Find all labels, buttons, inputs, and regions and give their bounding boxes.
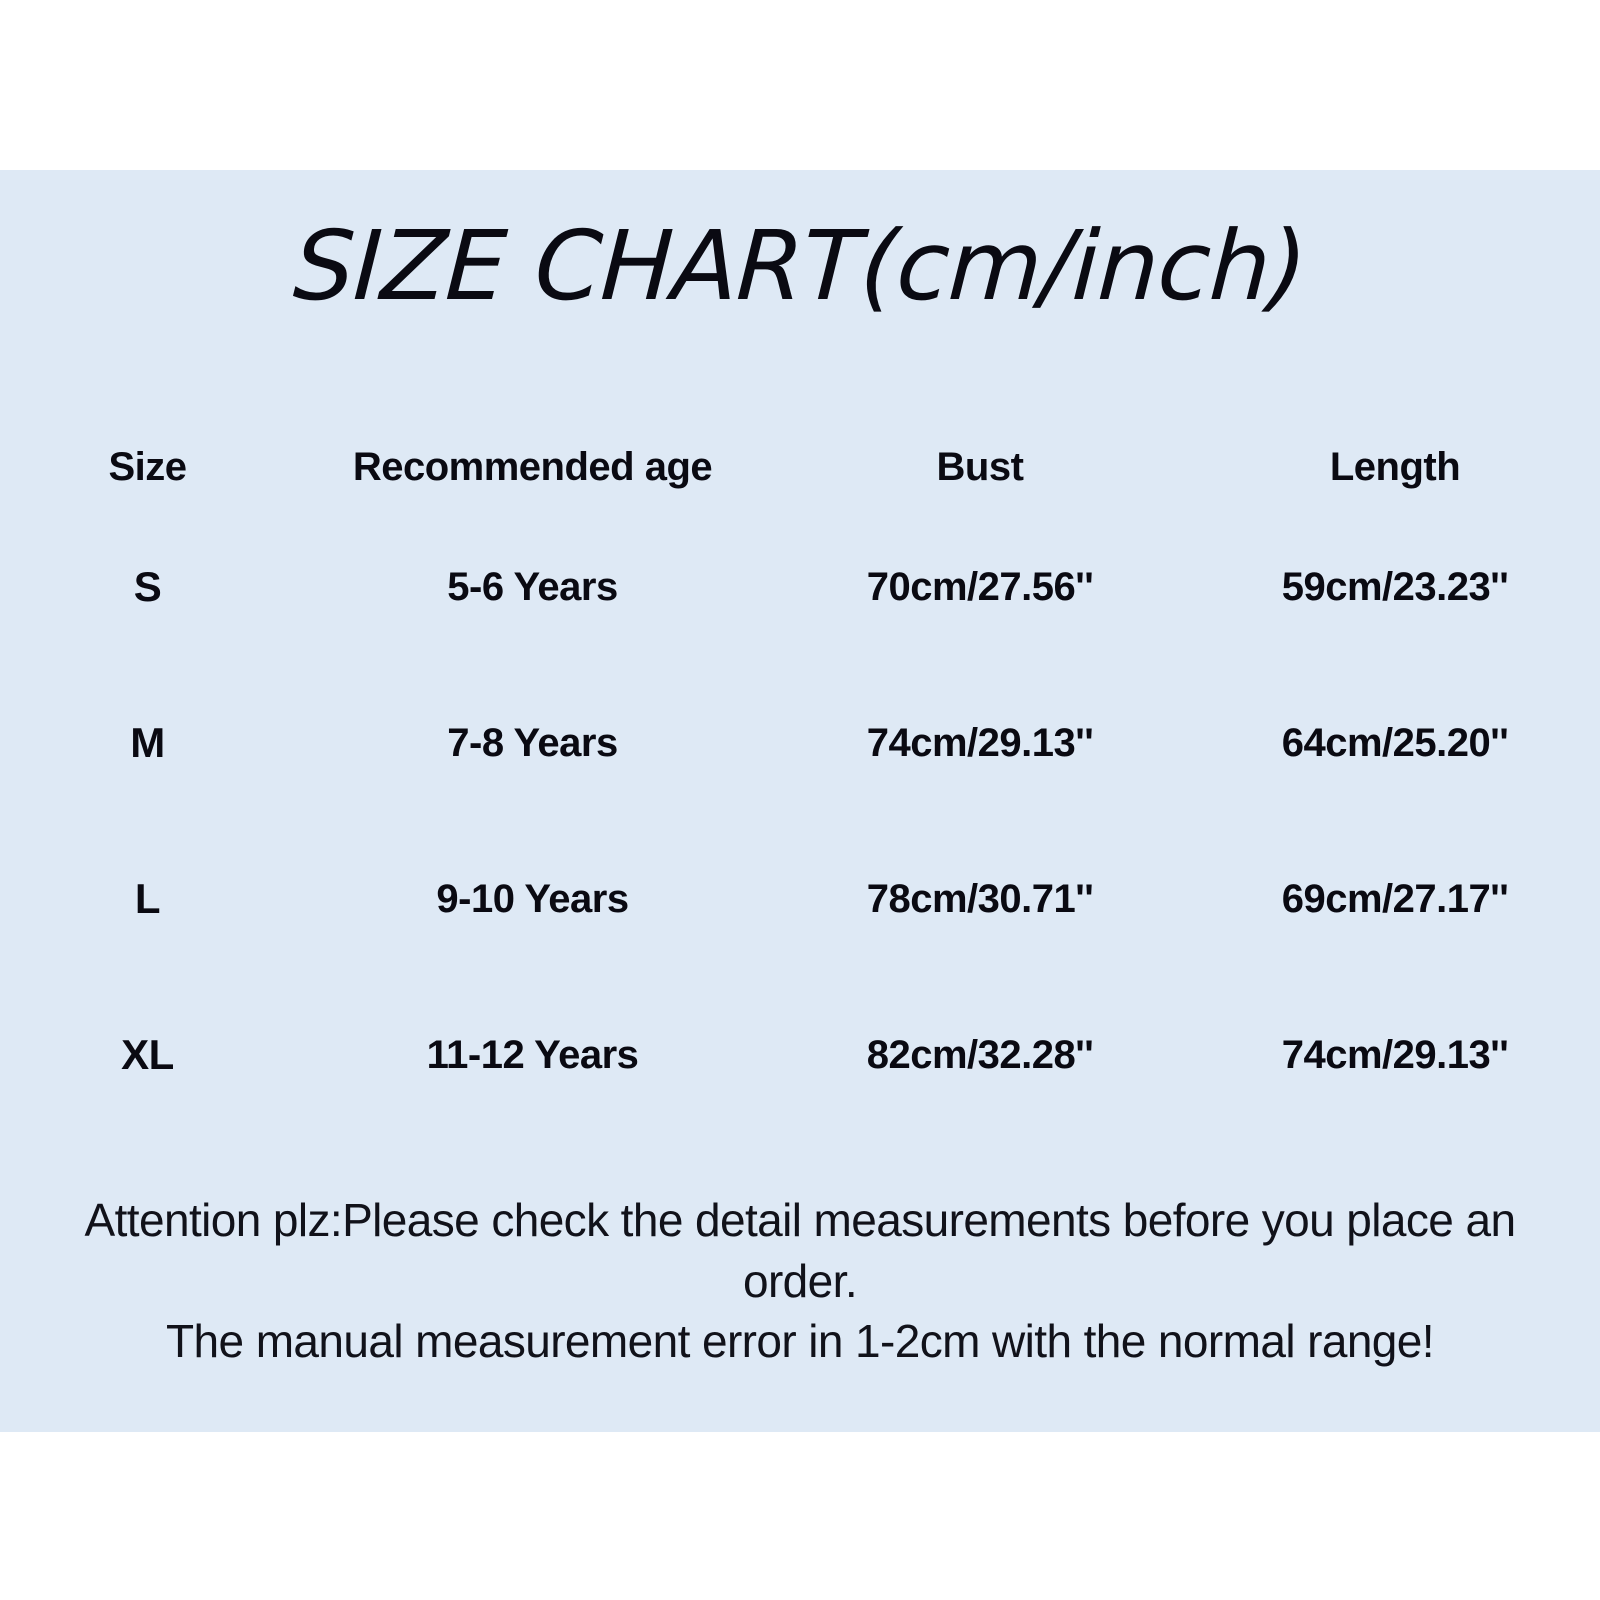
cell-age: 5-6 Years — [295, 509, 770, 665]
column-header-length: Length — [1190, 425, 1600, 509]
cell-length: 64cm/25.20'' — [1190, 665, 1600, 821]
cell-age: 7-8 Years — [295, 665, 770, 821]
cell-bust: 82cm/32.28'' — [770, 977, 1190, 1133]
cell-bust: 78cm/30.71'' — [770, 821, 1190, 977]
table-row: M 7-8 Years 74cm/29.13'' 64cm/25.20'' — [0, 665, 1600, 821]
footer-line-1: Attention plz:Please check the detail me… — [38, 1190, 1562, 1251]
footer-line-3: The manual measurement error in 1-2cm wi… — [38, 1311, 1562, 1372]
cell-bust: 74cm/29.13'' — [770, 665, 1190, 821]
table-row: XL 11-12 Years 82cm/32.28'' 74cm/29.13'' — [0, 977, 1600, 1133]
column-header-size: Size — [0, 425, 295, 509]
cell-size: L — [0, 821, 295, 977]
cell-bust: 70cm/27.56'' — [770, 509, 1190, 665]
cell-size: S — [0, 509, 295, 665]
table-header-row: Size Recommended age Bust Length — [0, 425, 1600, 509]
cell-age: 9-10 Years — [295, 821, 770, 977]
column-header-bust: Bust — [770, 425, 1190, 509]
page-title: SIZE CHART(cm/inch) — [0, 218, 1600, 314]
cell-size: XL — [0, 977, 295, 1133]
size-chart-table: Size Recommended age Bust Length S 5-6 Y… — [0, 425, 1600, 1133]
table-row: L 9-10 Years 78cm/30.71'' 69cm/27.17'' — [0, 821, 1600, 977]
cell-length: 69cm/27.17'' — [1190, 821, 1600, 977]
size-chart-panel: SIZE CHART(cm/inch) Size Recommended age… — [0, 170, 1600, 1432]
footer-line-2: order. — [38, 1251, 1562, 1312]
cell-length: 59cm/23.23'' — [1190, 509, 1600, 665]
table-row: S 5-6 Years 70cm/27.56'' 59cm/23.23'' — [0, 509, 1600, 665]
footer-note: Attention plz:Please check the detail me… — [38, 1190, 1562, 1372]
column-header-age: Recommended age — [295, 425, 770, 509]
cell-age: 11-12 Years — [295, 977, 770, 1133]
cell-size: M — [0, 665, 295, 821]
cell-length: 74cm/29.13'' — [1190, 977, 1600, 1133]
